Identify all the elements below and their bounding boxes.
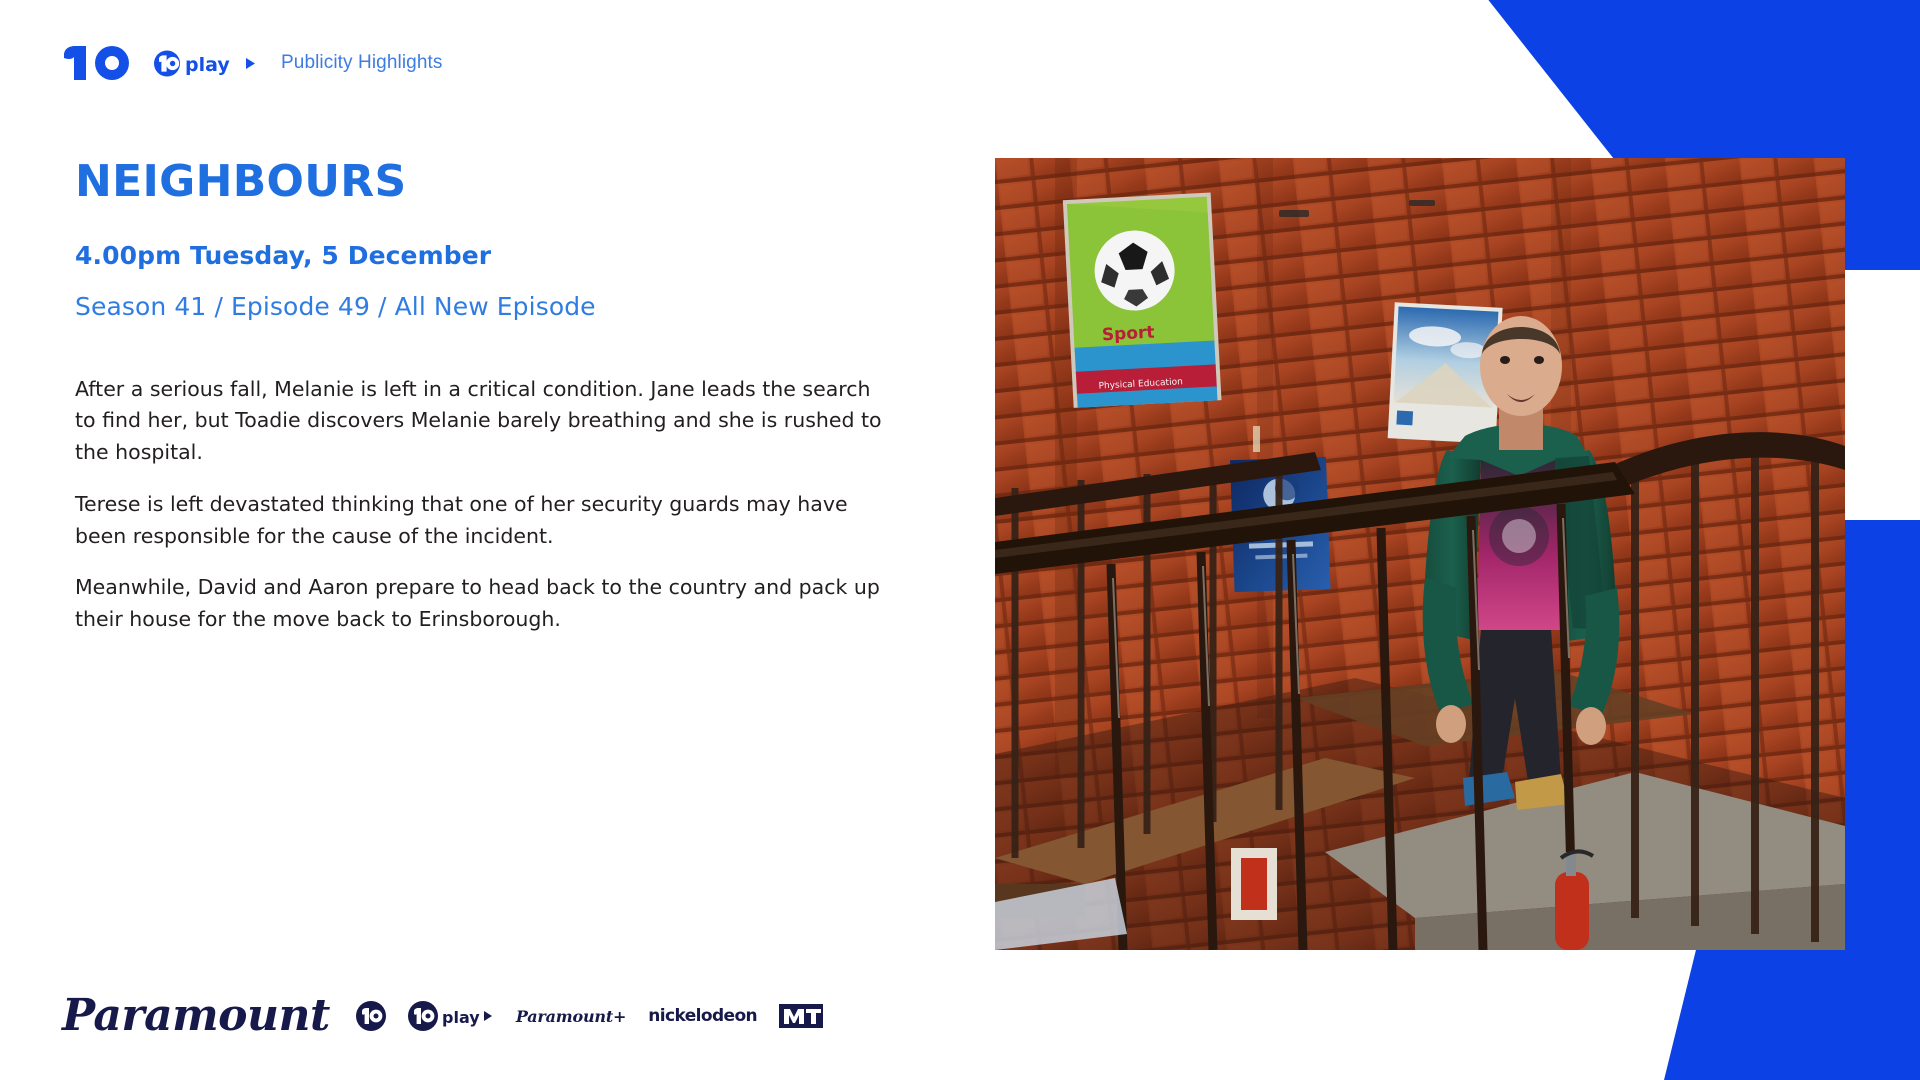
network-10-logo <box>62 45 140 81</box>
page-header: play Publicity Highlights <box>62 45 442 81</box>
slide-canvas: play Publicity Highlights NEIGHBOURS 4.0… <box>0 0 1920 1080</box>
synopsis-paragraph: After a serious fall, Melanie is left in… <box>75 374 895 469</box>
airdate-line: 4.00pm Tuesday, 5 December <box>75 242 895 271</box>
footer-10play-icon: play <box>408 1001 494 1031</box>
nickelodeon-logo: nickelodeon <box>648 1006 757 1026</box>
footer-10-icon <box>356 1001 386 1031</box>
synopsis-paragraph: Terese is left devastated thinking that … <box>75 489 895 553</box>
synopsis-paragraph: Meanwhile, David and Aaron prepare to he… <box>75 572 895 636</box>
hero-image: Sport Physical Education <box>995 158 1845 950</box>
page-title: NEIGHBOURS <box>75 160 895 204</box>
paramount-plus-logo: Paramount+ <box>516 1007 626 1026</box>
tenplay-logo: play <box>154 50 259 76</box>
svg-text:play: play <box>442 1008 480 1027</box>
synopsis: After a serious fall, Melanie is left in… <box>75 374 895 636</box>
paramount-wordmark: Paramount <box>62 994 334 1038</box>
header-label: Publicity Highlights <box>281 52 442 74</box>
mtv-logo <box>779 1002 823 1030</box>
program-details: NEIGHBOURS 4.00pm Tuesday, 5 December Se… <box>75 160 895 636</box>
episode-line: Season 41 / Episode 49 / All New Episode <box>75 293 895 322</box>
footer-logos: Paramount play Paramount+ nickelodeon <box>62 994 823 1038</box>
svg-text:play: play <box>185 54 230 76</box>
